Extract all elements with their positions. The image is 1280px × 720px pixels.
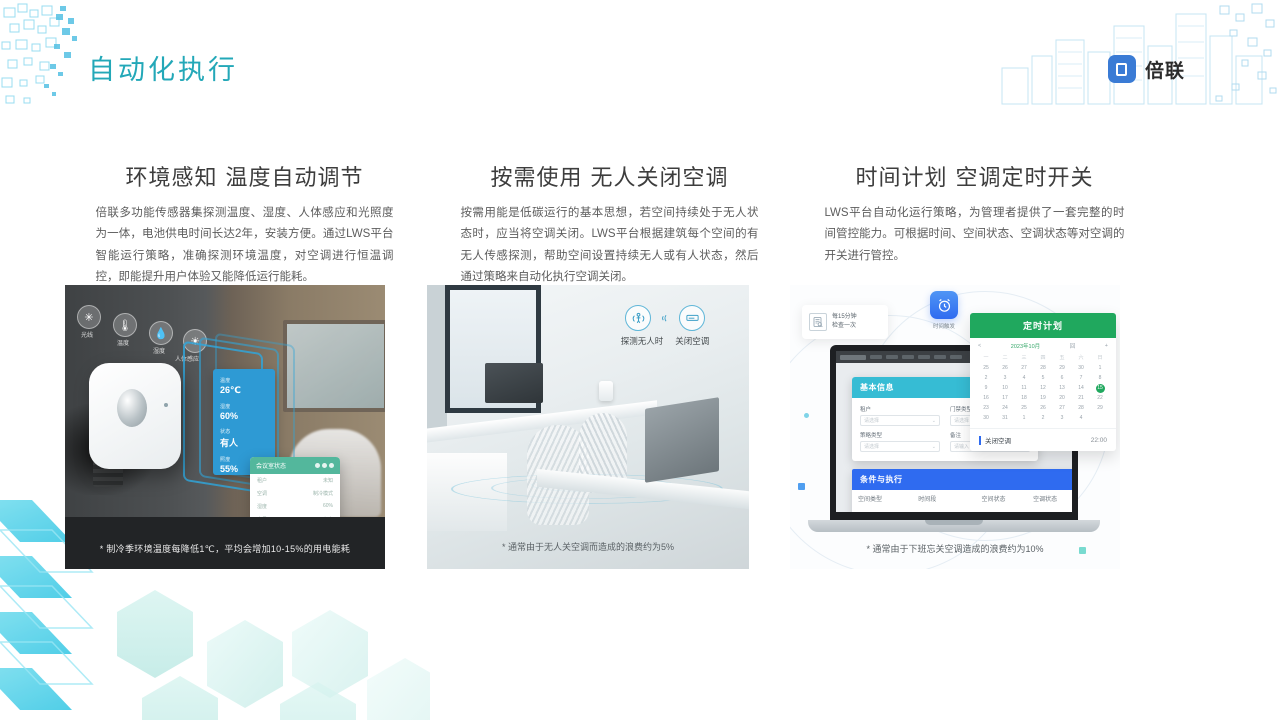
placeholder: 请选择 bbox=[864, 443, 879, 450]
menu-item-icon bbox=[918, 355, 930, 359]
room-status-title: 会议室状态 bbox=[256, 461, 286, 470]
calendar-day[interactable]: 30 bbox=[977, 414, 995, 423]
document-search-icon bbox=[809, 313, 827, 331]
header: 自动化执行 bbox=[88, 48, 238, 87]
ceiling-sensor bbox=[599, 381, 613, 401]
menu-item-icon bbox=[886, 355, 898, 359]
col-header: 空间类型 bbox=[852, 490, 912, 507]
menu-item-icon bbox=[950, 355, 962, 359]
calendar-weekday: 三 bbox=[1015, 354, 1033, 363]
decor-dot-5 bbox=[798, 483, 805, 490]
calendar-day[interactable]: 31 bbox=[996, 414, 1014, 423]
monitor-right bbox=[645, 397, 719, 483]
calendar-day[interactable]: 2 bbox=[1034, 414, 1052, 423]
square-logo-icon bbox=[1108, 55, 1136, 83]
detect-label: 探测无人时 bbox=[621, 335, 664, 347]
time-trigger: 时间触发 bbox=[914, 291, 974, 330]
cell: 22:00-07:00 bbox=[912, 507, 975, 512]
calendar-day[interactable]: 21 bbox=[1072, 394, 1090, 403]
whiteboard bbox=[283, 320, 385, 412]
row-value: 60% bbox=[323, 503, 333, 510]
calendar-day[interactable]: 9 bbox=[977, 384, 995, 393]
light-icon: ✳ bbox=[77, 305, 101, 329]
sensor-device bbox=[89, 363, 181, 469]
temperature-icon-label: 温度 bbox=[117, 338, 129, 347]
room-status-row: 租户 未知 bbox=[250, 474, 340, 487]
row-value: 制冷模式 bbox=[313, 490, 333, 497]
cell: 持续无人 bbox=[975, 507, 1027, 512]
column-1: 环境感知 温度自动调节 倍联多功能传感器集探测温度、湿度、人体感应和光照度为一体… bbox=[63, 160, 426, 288]
readout-row: 温度 26℃ bbox=[220, 377, 268, 396]
calendar-day[interactable]: 28 bbox=[1072, 404, 1090, 413]
schedule-card: 定时计划 < 2023年10月 回 + 一二三四五六日2526272829301… bbox=[970, 313, 1116, 451]
humidity-icon: 💧 bbox=[149, 321, 173, 345]
calendar-day[interactable]: 11 bbox=[1015, 384, 1033, 393]
col-header: 空间状态 bbox=[975, 490, 1027, 507]
page-title: 自动化执行 bbox=[88, 48, 238, 87]
calendar-day[interactable]: 18 bbox=[1015, 394, 1033, 403]
calendar-day[interactable]: 26 bbox=[1034, 404, 1052, 413]
calendar-day[interactable]: 29 bbox=[1091, 404, 1109, 413]
menu-item-icon bbox=[934, 355, 946, 359]
column-2-title: 按需使用 无人关闭空调 bbox=[428, 160, 791, 192]
figure-2-caption: * 通常由于无人关空调而造成的浪费约为5% bbox=[427, 540, 749, 553]
calendar-day[interactable]: 6 bbox=[1053, 374, 1071, 383]
select-input[interactable]: 请选择 ⌄ bbox=[860, 441, 940, 452]
calendar-day[interactable]: 25 bbox=[977, 364, 995, 373]
calendar-day[interactable]: 7 bbox=[1072, 374, 1090, 383]
schedule-nav: < 2023年10月 回 + bbox=[970, 338, 1116, 354]
select-input[interactable]: 请选择 ⌄ bbox=[860, 415, 940, 426]
readout-row: 湿度 60% bbox=[220, 403, 268, 421]
calendar-day[interactable]: 17 bbox=[996, 394, 1014, 403]
field-label: 策略类型 bbox=[860, 431, 940, 439]
slide-root: 自动化执行 倍联 环境感知 温度自动调节 倍联多功能传感器集探测温度、湿度、人体… bbox=[0, 0, 1280, 720]
calendar-weekday: 一 bbox=[977, 354, 995, 363]
calendar-day[interactable]: 28 bbox=[1034, 364, 1052, 373]
calendar-day[interactable]: 4 bbox=[1015, 374, 1033, 383]
calendar-day[interactable]: 14 bbox=[1072, 384, 1090, 393]
check-interval-line2: 检查一次 bbox=[832, 322, 857, 331]
calendar-day[interactable]: 27 bbox=[1053, 404, 1071, 413]
figure-3-caption: * 通常由于下班忘关空调造成的浪费约为10% bbox=[790, 542, 1120, 555]
sensor-led-icon bbox=[164, 403, 168, 407]
figure-office-occupancy: 探测无人时 关闭空调 * 通常由于无人关空调而造成的浪费约为5% bbox=[427, 285, 749, 569]
column-3: 时间计划 空调定时开关 LWS平台自动化运行策略，为管理者提供了一套完整的时间管… bbox=[793, 160, 1156, 288]
check-interval-line1: 每15分钟 bbox=[832, 313, 857, 322]
calendar-day[interactable]: 16 bbox=[977, 394, 995, 403]
decor-dot-1 bbox=[804, 413, 809, 418]
window-controls-icon bbox=[315, 463, 334, 468]
calendar-day[interactable]: 2 bbox=[977, 374, 995, 383]
calendar-day[interactable]: 1 bbox=[1015, 414, 1033, 423]
calendar-day[interactable]: 13 bbox=[1053, 384, 1071, 393]
check-interval-badge: 每15分钟 检查一次 bbox=[802, 305, 888, 339]
column-2-body: 按需用能是低碳运行的基本思想，若空间持续处于无人状态时，应当将空调关闭。LWS平… bbox=[460, 203, 760, 288]
calendar-day[interactable]: 27 bbox=[1015, 364, 1033, 373]
schedule-item[interactable]: 关闭空调 22:00 bbox=[970, 428, 1116, 451]
placeholder: 请输入 bbox=[954, 443, 969, 450]
air-conditioner-icon bbox=[679, 305, 705, 331]
field-policy-type[interactable]: 策略类型 请选择 ⌄ bbox=[860, 431, 940, 452]
column-2: 按需使用 无人关闭空调 按需用能是低碳运行的基本思想，若空间持续处于无人状态时，… bbox=[428, 160, 791, 288]
brand-name: 倍联 bbox=[1145, 56, 1185, 83]
figure-sensor-wall: ✳ 光线 🌡 温度 💧 湿度 ☀ 人体感应 温度 26℃ 湿度 60% 状态 bbox=[65, 285, 385, 569]
calendar-day[interactable]: 25 bbox=[1015, 404, 1033, 413]
calendar-day[interactable]: 30 bbox=[1072, 364, 1090, 373]
calendar-day[interactable]: 3 bbox=[1053, 414, 1071, 423]
calendar-day[interactable]: 19 bbox=[1034, 394, 1052, 403]
check-interval-text: 每15分钟 检查一次 bbox=[832, 313, 857, 331]
readout-label: 状态 bbox=[220, 428, 268, 435]
row-value: 未知 bbox=[323, 477, 333, 484]
monitor-left bbox=[485, 363, 543, 403]
calendar-day[interactable]: 12 bbox=[1034, 384, 1052, 393]
col-header: 时间段 bbox=[912, 490, 975, 507]
calendar-weekday: 五 bbox=[1053, 354, 1071, 363]
calendar-day[interactable]: 5 bbox=[1034, 374, 1052, 383]
schedule-item-label: 关闭空调 bbox=[985, 435, 1011, 445]
content-columns: 环境感知 温度自动调节 倍联多功能传感器集探测温度、湿度、人体感应和光照度为一体… bbox=[0, 160, 1280, 288]
calendar-weekday: 四 bbox=[1034, 354, 1052, 363]
time-trigger-label: 时间触发 bbox=[914, 322, 974, 330]
readout-label: 湿度 bbox=[220, 403, 268, 410]
calendar-day[interactable]: 10 bbox=[996, 384, 1014, 393]
figure-laptop-schedule: 每15分钟 检查一次 时间触发 bbox=[790, 285, 1120, 569]
calendar-day[interactable]: 20 bbox=[1053, 394, 1071, 403]
shutoff-label: 关闭空调 bbox=[675, 335, 709, 347]
table-header-row: 空间类型 时间段 空间状态 空调状态 执行 bbox=[852, 490, 1072, 507]
calendar-weekday: 六 bbox=[1072, 354, 1090, 363]
figure-1-caption: * 制冷季环境温度每降低1℃，平均会增加10-15%的用电能耗 bbox=[65, 542, 385, 555]
row-label: 空调 bbox=[257, 490, 267, 497]
chevron-down-icon: ⌄ bbox=[932, 444, 936, 450]
condition-table: 空间类型 时间段 空间状态 空调状态 执行 公共办公区 22:00-07:00 … bbox=[852, 490, 1072, 512]
calendar-day[interactable]: 8 bbox=[1091, 374, 1109, 383]
readout-value: 有人 bbox=[220, 436, 268, 449]
placeholder: 请选择 bbox=[864, 417, 879, 424]
temperature-icon: 🌡 bbox=[113, 313, 137, 337]
light-icon-label: 光线 bbox=[81, 330, 93, 339]
room-status-header: 会议室状态 bbox=[250, 457, 340, 474]
person-detect-icon bbox=[625, 305, 651, 331]
calendar-weekday: 二 bbox=[996, 354, 1014, 363]
field-tenant[interactable]: 租户 请选择 ⌄ bbox=[860, 405, 940, 426]
cell: 开 bbox=[1027, 507, 1072, 512]
readout-row: 状态 有人 bbox=[220, 428, 268, 449]
calendar-day[interactable]: 4 bbox=[1072, 414, 1090, 423]
calendar-day[interactable]: 23 bbox=[977, 404, 995, 413]
condition-title: 条件与执行 bbox=[852, 469, 1072, 490]
item-marker-icon bbox=[979, 436, 981, 445]
sensor-lens-icon bbox=[117, 389, 147, 427]
column-3-title: 时间计划 空调定时开关 bbox=[793, 160, 1156, 192]
row-label: 租户 bbox=[257, 477, 267, 484]
brand-logo: 倍联 bbox=[1108, 55, 1185, 83]
readout-value: 26℃ bbox=[220, 385, 268, 396]
readout-value: 60% bbox=[220, 411, 268, 421]
placeholder: 请选择 bbox=[954, 417, 969, 424]
signal-icon bbox=[657, 310, 673, 326]
humidity-icon-label: 湿度 bbox=[153, 346, 165, 355]
calendar-weekday: 日 bbox=[1091, 354, 1109, 363]
col-header: 空调状态 bbox=[1027, 490, 1072, 507]
cell: 公共办公区 bbox=[852, 507, 912, 512]
room-status-row: 空调 制冷模式 bbox=[250, 487, 340, 500]
schedule-title: 定时计划 bbox=[970, 313, 1116, 338]
room-status-row: 湿度 60% bbox=[250, 500, 340, 513]
add-plan-button[interactable]: + bbox=[1105, 343, 1108, 349]
chevron-down-icon: ⌄ bbox=[932, 418, 936, 424]
schedule-item-time: 22:00 bbox=[1091, 437, 1107, 444]
laptop-notch bbox=[925, 520, 983, 525]
current-month-label: 2023年10月 bbox=[1011, 342, 1040, 350]
readout-label: 温度 bbox=[220, 377, 268, 384]
alarm-clock-icon bbox=[930, 291, 958, 319]
calendar-day[interactable]: 26 bbox=[996, 364, 1014, 373]
office-wall bbox=[427, 285, 447, 435]
calendar-day[interactable]: 3 bbox=[996, 374, 1014, 383]
calendar-day[interactable]: 1 bbox=[1091, 364, 1109, 373]
calendar-day[interactable]: 22 bbox=[1091, 394, 1109, 403]
calendar-day[interactable]: 15 bbox=[1096, 384, 1105, 393]
condition-card: 条件与执行 空间类型 时间段 空间状态 空调状态 执行 公共办公区 bbox=[852, 469, 1072, 512]
field-label: 租户 bbox=[860, 405, 940, 413]
calendar-grid[interactable]: 一二三四五六日252627282930123456789101112131415… bbox=[970, 354, 1116, 428]
overlay-icon-group: 探测无人时 关闭空调 bbox=[605, 305, 725, 347]
app-logo-icon bbox=[840, 355, 866, 360]
column-1-title: 环境感知 温度自动调节 bbox=[63, 160, 426, 192]
menu-item-icon bbox=[870, 355, 882, 359]
today-button[interactable]: 回 bbox=[1070, 342, 1076, 350]
menu-item-icon bbox=[902, 355, 914, 359]
row-label: 湿度 bbox=[257, 503, 267, 510]
calendar-day[interactable]: 24 bbox=[996, 404, 1014, 413]
prev-month-button[interactable]: < bbox=[978, 343, 981, 349]
column-3-body: LWS平台自动化运行策略，为管理者提供了一套完整的时间管控能力。可根据时间、空间… bbox=[824, 203, 1126, 267]
calendar-day[interactable]: 29 bbox=[1053, 364, 1071, 373]
table-row: 公共办公区 22:00-07:00 持续无人 开 关闭空调 bbox=[852, 507, 1072, 512]
column-1-body: 倍联多功能传感器集探测温度、湿度、人体感应和光照度为一体，电池供电时间长达2年，… bbox=[95, 203, 395, 288]
